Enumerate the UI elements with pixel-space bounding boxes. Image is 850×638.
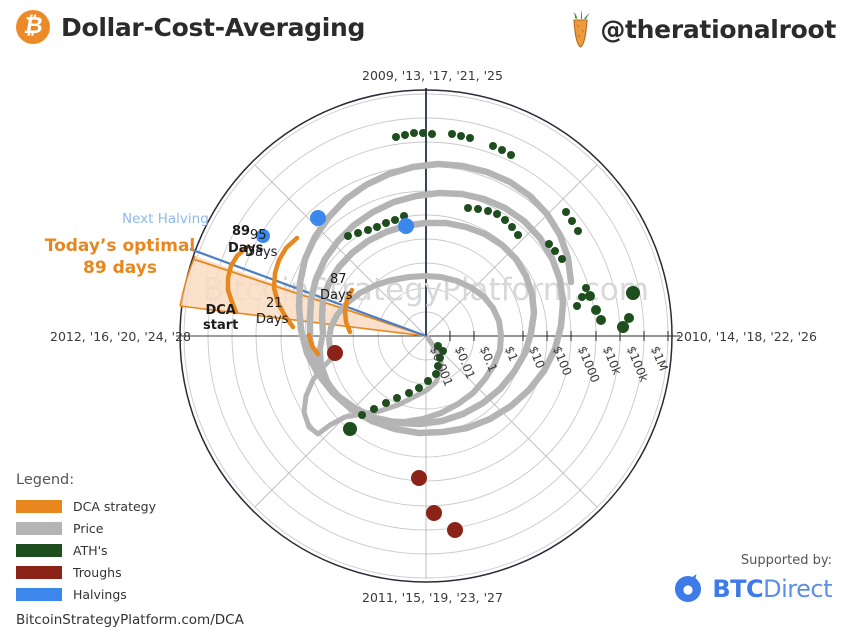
legend-label-halvings: Halvings bbox=[73, 587, 127, 602]
legend-label-aths: ATH's bbox=[73, 543, 108, 558]
trough-marker bbox=[447, 522, 463, 538]
btcdirect-wordmark: BTCDirect bbox=[712, 575, 832, 603]
supported-by-label: Supported by: bbox=[671, 553, 832, 568]
marker-87-value: 87 bbox=[330, 272, 347, 287]
site-url[interactable]: BitcoinStrategyPlatform.com/DCA bbox=[16, 612, 244, 628]
marker-89-value: 89 bbox=[232, 224, 250, 239]
btcdirect-logo[interactable]: BTCDirect bbox=[671, 572, 832, 606]
angular-tick-left: 2012, '16, '20, '24, '28 bbox=[50, 329, 191, 344]
legend-item-halvings[interactable]: Halvings bbox=[16, 584, 266, 604]
dca-spiral-chart-page: ₿ Dollar-Cost-Averaging @therationalroot bbox=[0, 0, 850, 638]
angular-tick-bottom: 2011, '15, '19, '23, '27 bbox=[362, 590, 503, 605]
todays-optimal-line2: 89 days bbox=[30, 258, 210, 280]
halving-marker bbox=[310, 210, 326, 226]
marker-87-unit: Days bbox=[320, 288, 352, 303]
todays-optimal-label: Today’s optimal 89 days bbox=[30, 236, 210, 280]
legend-item-aths[interactable]: ATH's bbox=[16, 540, 266, 560]
btcdirect-light: Direct bbox=[763, 575, 832, 603]
dca-start-line1: DCA bbox=[203, 303, 238, 318]
legend-title: Legend: bbox=[16, 472, 266, 488]
legend: Legend: DCA strategy Price ATH's Troughs… bbox=[16, 472, 266, 606]
legend-label-troughs: Troughs bbox=[73, 565, 122, 580]
dca-start-line2: start bbox=[203, 318, 238, 333]
marker-95-unit: Days bbox=[245, 245, 277, 260]
btcdirect-bold: BTC bbox=[712, 575, 763, 603]
trough-marker bbox=[327, 345, 343, 361]
supported-by: Supported by: BTCDirect bbox=[671, 553, 832, 606]
trough-marker bbox=[411, 470, 427, 486]
legend-item-price[interactable]: Price bbox=[16, 518, 266, 538]
angular-tick-right: 2010, '14, '18, '22, '26 bbox=[676, 329, 817, 344]
dca-start-label: DCA start bbox=[203, 303, 238, 333]
halving-marker bbox=[398, 218, 414, 234]
legend-swatch-price bbox=[16, 522, 62, 535]
next-halving-label: Next Halving bbox=[122, 211, 209, 227]
marker-21-unit: Days bbox=[256, 312, 288, 327]
todays-optimal-line1: Today’s optimal bbox=[30, 236, 210, 258]
legend-label-dca-strategy: DCA strategy bbox=[73, 499, 156, 514]
marker-95-value: 95 bbox=[250, 228, 267, 243]
marker-21-value: 21 bbox=[266, 296, 283, 311]
legend-swatch-aths bbox=[16, 544, 62, 557]
legend-swatch-dca-strategy bbox=[16, 500, 62, 513]
legend-label-price: Price bbox=[73, 521, 104, 536]
btcdirect-logo-icon bbox=[671, 572, 705, 606]
legend-item-troughs[interactable]: Troughs bbox=[16, 562, 266, 582]
trough-marker bbox=[426, 505, 442, 521]
legend-swatch-troughs bbox=[16, 566, 62, 579]
angular-tick-top: 2009, '13, '17, '21, '25 bbox=[362, 68, 503, 83]
legend-swatch-halvings bbox=[16, 588, 62, 601]
legend-item-dca-strategy[interactable]: DCA strategy bbox=[16, 496, 266, 516]
